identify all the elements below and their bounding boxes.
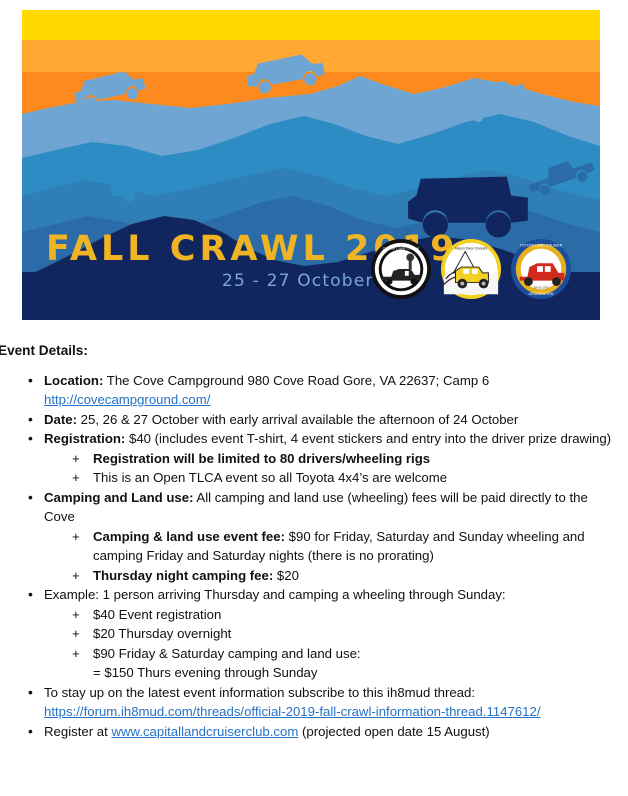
- example-sublist: + $40 Event registration + $20 Thursday …: [44, 605, 614, 683]
- list-item-date: • Date: 25, 26 & 27 October with early a…: [0, 410, 614, 430]
- list-item-example: • Example: 1 person arriving Thursday an…: [0, 585, 614, 683]
- list-item-register: • Register at www.capitallandcruiserclub…: [0, 722, 614, 742]
- date-label: Date:: [44, 412, 77, 427]
- cove-campground-link[interactable]: http://covecampground.com/: [44, 392, 210, 407]
- bullet-icon: •: [28, 429, 33, 449]
- bullet-icon: •: [28, 683, 33, 703]
- bullet-icon: •: [28, 585, 33, 605]
- location-text: The Cove Campground 980 Cove Road Gore, …: [103, 373, 489, 388]
- mason-dixon-cruisers-logo: Mason Dixon Cruisers: [440, 238, 502, 300]
- banner-subtitle: 25 - 27 October: [222, 273, 374, 290]
- svg-text:ASSOCIATION: ASSOCIATION: [529, 292, 554, 296]
- location-label: Location:: [44, 373, 103, 388]
- plus-icon: +: [72, 527, 80, 547]
- bullet-icon: •: [28, 371, 33, 391]
- camping-label: Camping and Land use:: [44, 490, 193, 505]
- plus-icon: +: [72, 468, 80, 488]
- list-item-location: • Location: The Cove Campground 980 Cove…: [0, 371, 614, 410]
- sub-item-thursday-fee: + Thursday night camping fee: $20: [44, 566, 614, 586]
- bullet-icon: •: [28, 722, 33, 742]
- date-text: 25, 26 & 27 October with early arrival a…: [77, 412, 518, 427]
- event-details-list: • Location: The Cove Campground 980 Cove…: [0, 371, 628, 742]
- sub-item-example-registration: + $40 Event registration: [44, 605, 614, 625]
- svg-text:Mason Dixon Cruisers: Mason Dixon Cruisers: [455, 247, 488, 251]
- page-title: Event Details:: [0, 341, 628, 361]
- sub-item-example-thursday: + $20 Thursday overnight: [44, 624, 614, 644]
- svg-text:Since 1995: Since 1995: [392, 290, 409, 294]
- register-text-before: Register at: [44, 724, 111, 739]
- event-banner: FALL CRAWL 2019 25 - 27 October Capital …: [22, 10, 600, 320]
- list-item-camping-land-use: • Camping and Land use: All camping and …: [0, 488, 614, 586]
- sub-item-registration-limit: + Registration will be limited to 80 dri…: [44, 449, 614, 469]
- ih8mud-thread-link[interactable]: https://forum.ih8mud.com/threads/officia…: [44, 704, 540, 719]
- svg-text:TOYOTA LAND CRUISER: TOYOTA LAND CRUISER: [520, 244, 563, 248]
- sub-item-label: Thursday night camping fee:: [93, 568, 273, 583]
- bullet-icon: •: [28, 410, 33, 430]
- sub-item-text: Registration will be limited to 80 drive…: [93, 451, 430, 466]
- svg-text:Capital Land Cruiser: Capital Land Cruiser: [383, 246, 421, 251]
- sub-item-text: $40 Event registration: [93, 607, 221, 622]
- plus-icon: +: [72, 449, 80, 469]
- svg-text:SINCE 1976: SINCE 1976: [533, 285, 549, 289]
- plus-icon: +: [72, 605, 80, 625]
- sub-item-text: $20: [273, 568, 299, 583]
- sub-item-text: $20 Thursday overnight: [93, 626, 231, 641]
- sub-item-camping-fee: + Camping & land use event fee: $90 for …: [44, 527, 614, 566]
- list-item-registration: • Registration: $40 (includes event T-sh…: [0, 429, 614, 488]
- sub-item-text: = $150 Thurs evening through Sunday: [93, 665, 317, 680]
- sub-item-example-total: = $150 Thurs evening through Sunday: [44, 663, 614, 683]
- list-item-ih8mud-thread: • To stay up on the latest event informa…: [0, 683, 614, 722]
- plus-icon: +: [72, 624, 80, 644]
- camping-sublist: + Camping & land use event fee: $90 for …: [44, 527, 614, 586]
- sub-item-text: $90 Friday & Saturday camping and land u…: [93, 646, 361, 661]
- registration-sublist: + Registration will be limited to 80 dri…: [44, 449, 614, 488]
- club-logos: Capital Land Cruiser Since 1995 Mason Di…: [370, 238, 572, 300]
- plus-icon: +: [72, 644, 80, 664]
- capital-land-cruiser-club-link[interactable]: www.capitallandcruiserclub.com: [111, 724, 298, 739]
- capital-land-cruiser-club-logo: Capital Land Cruiser Since 1995: [370, 238, 432, 300]
- bullet-icon: •: [28, 488, 33, 508]
- sub-item-label: Camping & land use event fee:: [93, 529, 285, 544]
- registration-text: $40 (includes event T-shirt, 4 event sti…: [125, 431, 611, 446]
- thread-text: To stay up on the latest event informati…: [44, 685, 475, 700]
- register-text-after: (projected open date 15 August): [298, 724, 489, 739]
- event-details-document: Event Details: • Location: The Cove Camp…: [0, 341, 628, 741]
- sub-item-open-tlca: + This is an Open TLCA event so all Toyo…: [44, 468, 614, 488]
- registration-label: Registration:: [44, 431, 125, 446]
- toyota-land-cruiser-association-logo: TOYOTA LAND CRUISER ASSOCIATION SINCE 19…: [510, 238, 572, 300]
- example-text: Example: 1 person arriving Thursday and …: [44, 587, 506, 602]
- sub-item-text: This is an Open TLCA event so all Toyota…: [93, 470, 447, 485]
- sub-item-example-weekend: + $90 Friday & Saturday camping and land…: [44, 644, 614, 664]
- plus-icon: +: [72, 566, 80, 586]
